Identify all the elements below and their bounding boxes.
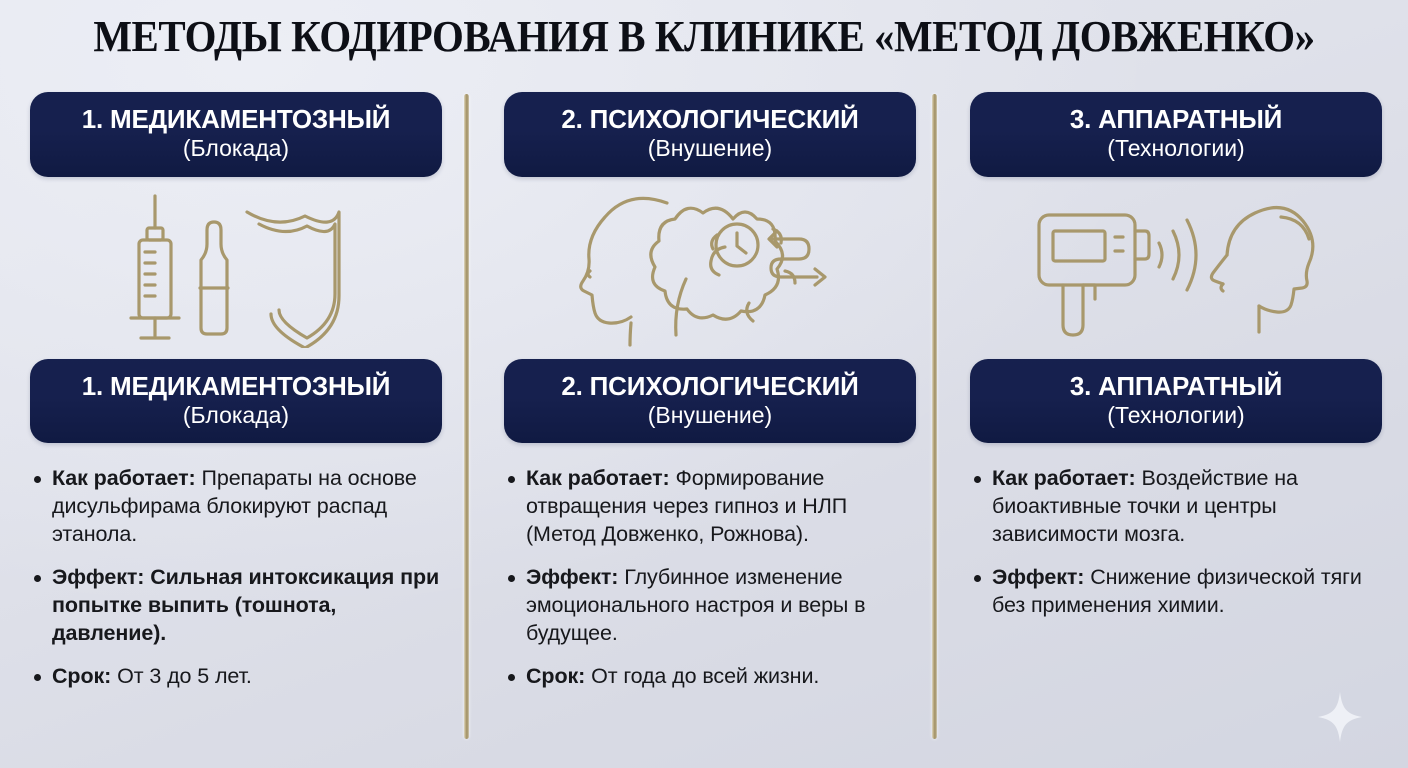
list-item: Эффект: Сильная интоксикация при попытке… [34, 564, 442, 648]
method-icon-container-1 [30, 177, 442, 359]
list-item: Эффект: Глубинное изменение эмоционально… [508, 564, 916, 648]
list-item: Как работает: Воздействие на биоактивные… [974, 465, 1382, 549]
columns-container: 1. МЕДИКАМЕНТОЗНЫЙ (Блокада) [0, 92, 1408, 768]
method-icon-container-3 [970, 177, 1382, 359]
bullet-dot-icon [34, 674, 41, 681]
bullet-label: Как работает: [526, 466, 670, 490]
method-column-hardware: 3. АППАРАТНЫЙ (Технологии) [942, 92, 1408, 768]
bullet-label: Эффект: [52, 565, 144, 589]
syringe-ampoule-shield-icon [129, 188, 344, 348]
bullet-dot-icon [34, 575, 41, 582]
list-item: Срок: От года до всей жизни. [508, 663, 916, 691]
method-header-card-top-1[interactable]: 1. МЕДИКАМЕНТОЗНЫЙ (Блокада) [30, 92, 442, 177]
method-subtitle: (Внушение) [514, 402, 906, 430]
method-header-card-bottom-2[interactable]: 2. ПСИХОЛОГИЧЕСКИЙ (Внушение) [504, 359, 916, 444]
bullet-label: Эффект: [992, 565, 1084, 589]
method-title: 3. АППАРАТНЫЙ [980, 372, 1372, 401]
bullet-dot-icon [508, 476, 515, 483]
method-column-psychological: 2. ПСИХОЛОГИЧЕСКИЙ (Внушение) [468, 92, 942, 768]
list-item: Срок: От 3 до 5 лет. [34, 663, 442, 691]
method-title: 1. МЕДИКАМЕНТОЗНЫЙ [40, 105, 432, 134]
list-item: Как работает: Препараты на основе дисуль… [34, 465, 442, 549]
bullet-dot-icon [508, 575, 515, 582]
bullet-body: От 3 до 5 лет. [117, 664, 252, 688]
method-subtitle: (Блокада) [40, 402, 432, 430]
method-subtitle: (Внушение) [514, 135, 906, 163]
method-title: 2. ПСИХОЛОГИЧЕСКИЙ [514, 105, 906, 134]
bullet-label: Как работает: [52, 466, 196, 490]
method-subtitle: (Блокада) [40, 135, 432, 163]
method-title: 2. ПСИХОЛОГИЧЕСКИЙ [514, 372, 906, 401]
method-column-medicamentous: 1. МЕДИКАМЕНТОЗНЫЙ (Блокада) [0, 92, 468, 768]
method-header-card-bottom-3[interactable]: 3. АППАРАТНЫЙ (Технологии) [970, 359, 1382, 444]
list-item: Эффект: Снижение физической тяги без при… [974, 564, 1382, 620]
method-bullet-list-3: Как работает: Воздействие на биоактивные… [970, 465, 1382, 620]
method-subtitle: (Технологии) [980, 402, 1372, 430]
page-title: МЕТОДЫ КОДИРОВАНИЯ В КЛИНИКЕ «МЕТОД ДОВЖ… [49, 14, 1358, 60]
method-bullet-list-2: Как работает: Формирование отвращения че… [504, 465, 916, 691]
method-header-card-top-2[interactable]: 2. ПСИХОЛОГИЧЕСКИЙ (Внушение) [504, 92, 916, 177]
list-item: Как работает: Формирование отвращения че… [508, 465, 916, 549]
bullet-label: Эффект: [526, 565, 618, 589]
method-title: 1. МЕДИКАМЕНТОЗНЫЙ [40, 372, 432, 401]
method-subtitle: (Технологии) [980, 135, 1372, 163]
device-waves-head-icon [1031, 193, 1321, 343]
method-title: 3. АППАРАТНЫЙ [980, 105, 1372, 134]
bullet-dot-icon [974, 575, 981, 582]
sparkle-star-icon [1318, 692, 1362, 742]
bullet-body: От года до всей жизни. [591, 664, 819, 688]
bullet-label: Срок: [52, 664, 111, 688]
bullet-dot-icon [508, 674, 515, 681]
method-header-card-bottom-1[interactable]: 1. МЕДИКАМЕНТОЗНЫЙ (Блокада) [30, 359, 442, 444]
page-title-bar: МЕТОДЫ КОДИРОВАНИЯ В КЛИНИКЕ «МЕТОД ДОВЖ… [0, 14, 1408, 60]
bullet-dot-icon [974, 476, 981, 483]
method-bullet-list-1: Как работает: Препараты на основе дисуль… [30, 465, 442, 691]
bullet-label: Как работает: [992, 466, 1136, 490]
head-brain-clock-icon [575, 185, 845, 350]
bullet-dot-icon [34, 476, 41, 483]
method-header-card-top-3[interactable]: 3. АППАРАТНЫЙ (Технологии) [970, 92, 1382, 177]
bullet-label: Срок: [526, 664, 585, 688]
method-icon-container-2 [504, 177, 916, 359]
